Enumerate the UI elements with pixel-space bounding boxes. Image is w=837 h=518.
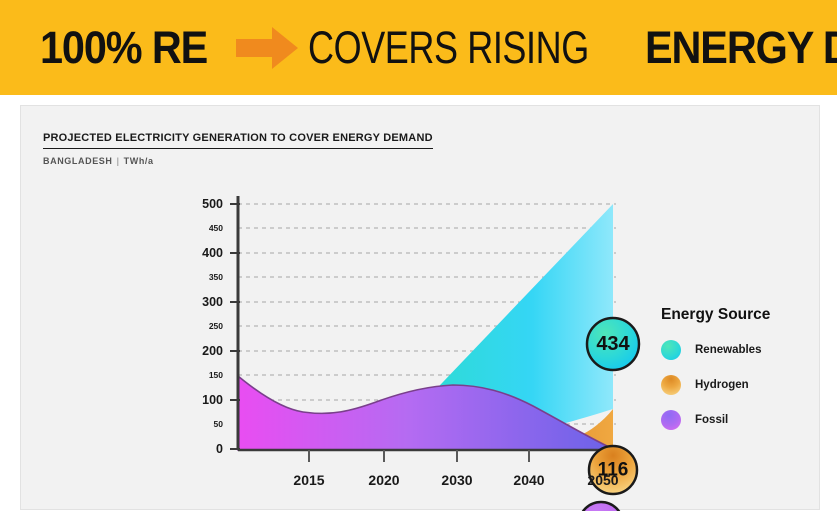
legend-item-hydrogen[interactable]: Hydrogen xyxy=(661,375,770,395)
value-label-renewables: 434 xyxy=(596,333,630,355)
y-tick-label-400: 400 xyxy=(193,246,223,260)
y-tick-label-250: 250 xyxy=(193,321,223,331)
value-bubble-renewables: 434 xyxy=(587,318,639,370)
y-tick-label-100: 100 xyxy=(193,393,223,407)
chart-legend: Energy Source Renewables Hydrogen Fossil xyxy=(661,306,770,445)
value-bubble-fossil: 0 xyxy=(579,502,623,511)
y-tick-label-150: 150 xyxy=(193,370,223,380)
headline-middle: COVERS RISING xyxy=(308,25,589,70)
x-tick-label-2040: 2040 xyxy=(513,472,544,488)
legend-label-fossil: Fossil xyxy=(695,414,728,426)
legend-swatch-renewables xyxy=(661,340,681,360)
y-tick-label-350: 350 xyxy=(193,272,223,282)
legend-item-fossil[interactable]: Fossil xyxy=(661,410,770,430)
x-tick-label-2050: 2050 xyxy=(587,472,618,488)
y-tick-label-50: 50 xyxy=(193,419,223,429)
chart-card: PROJECTED ELECTRICITY GENERATION TO COVE… xyxy=(20,105,820,510)
x-tick-label-2015: 2015 xyxy=(293,472,324,488)
legend-label-renewables: Renewables xyxy=(695,344,761,356)
right-arrow-icon xyxy=(236,27,298,69)
legend-item-renewables[interactable]: Renewables xyxy=(661,340,770,360)
headline-prefix: 100% RE xyxy=(40,25,207,70)
y-tick-label-0: 0 xyxy=(193,442,223,456)
legend-swatch-fossil xyxy=(661,410,681,430)
y-tick-label-450: 450 xyxy=(193,223,223,233)
legend-swatch-hydrogen xyxy=(661,375,681,395)
y-tick-label-500: 500 xyxy=(193,197,223,211)
header-banner-content: 100% RE COVERS RISING ENERGY DEMAND xyxy=(40,25,817,70)
y-tick-label-300: 300 xyxy=(193,295,223,309)
legend-label-hydrogen: Hydrogen xyxy=(695,379,749,391)
header-banner: 100% RE COVERS RISING ENERGY DEMAND xyxy=(0,0,837,95)
headline-suffix: ENERGY DEMAND xyxy=(645,25,837,70)
y-tick-label-200: 200 xyxy=(193,344,223,358)
legend-title: Energy Source xyxy=(661,306,770,324)
x-tick-label-2030: 2030 xyxy=(441,472,472,488)
x-tick-marks xyxy=(309,450,603,462)
x-tick-label-2020: 2020 xyxy=(368,472,399,488)
page-root: 100% RE COVERS RISING ENERGY DEMAND PROJ… xyxy=(0,0,837,518)
